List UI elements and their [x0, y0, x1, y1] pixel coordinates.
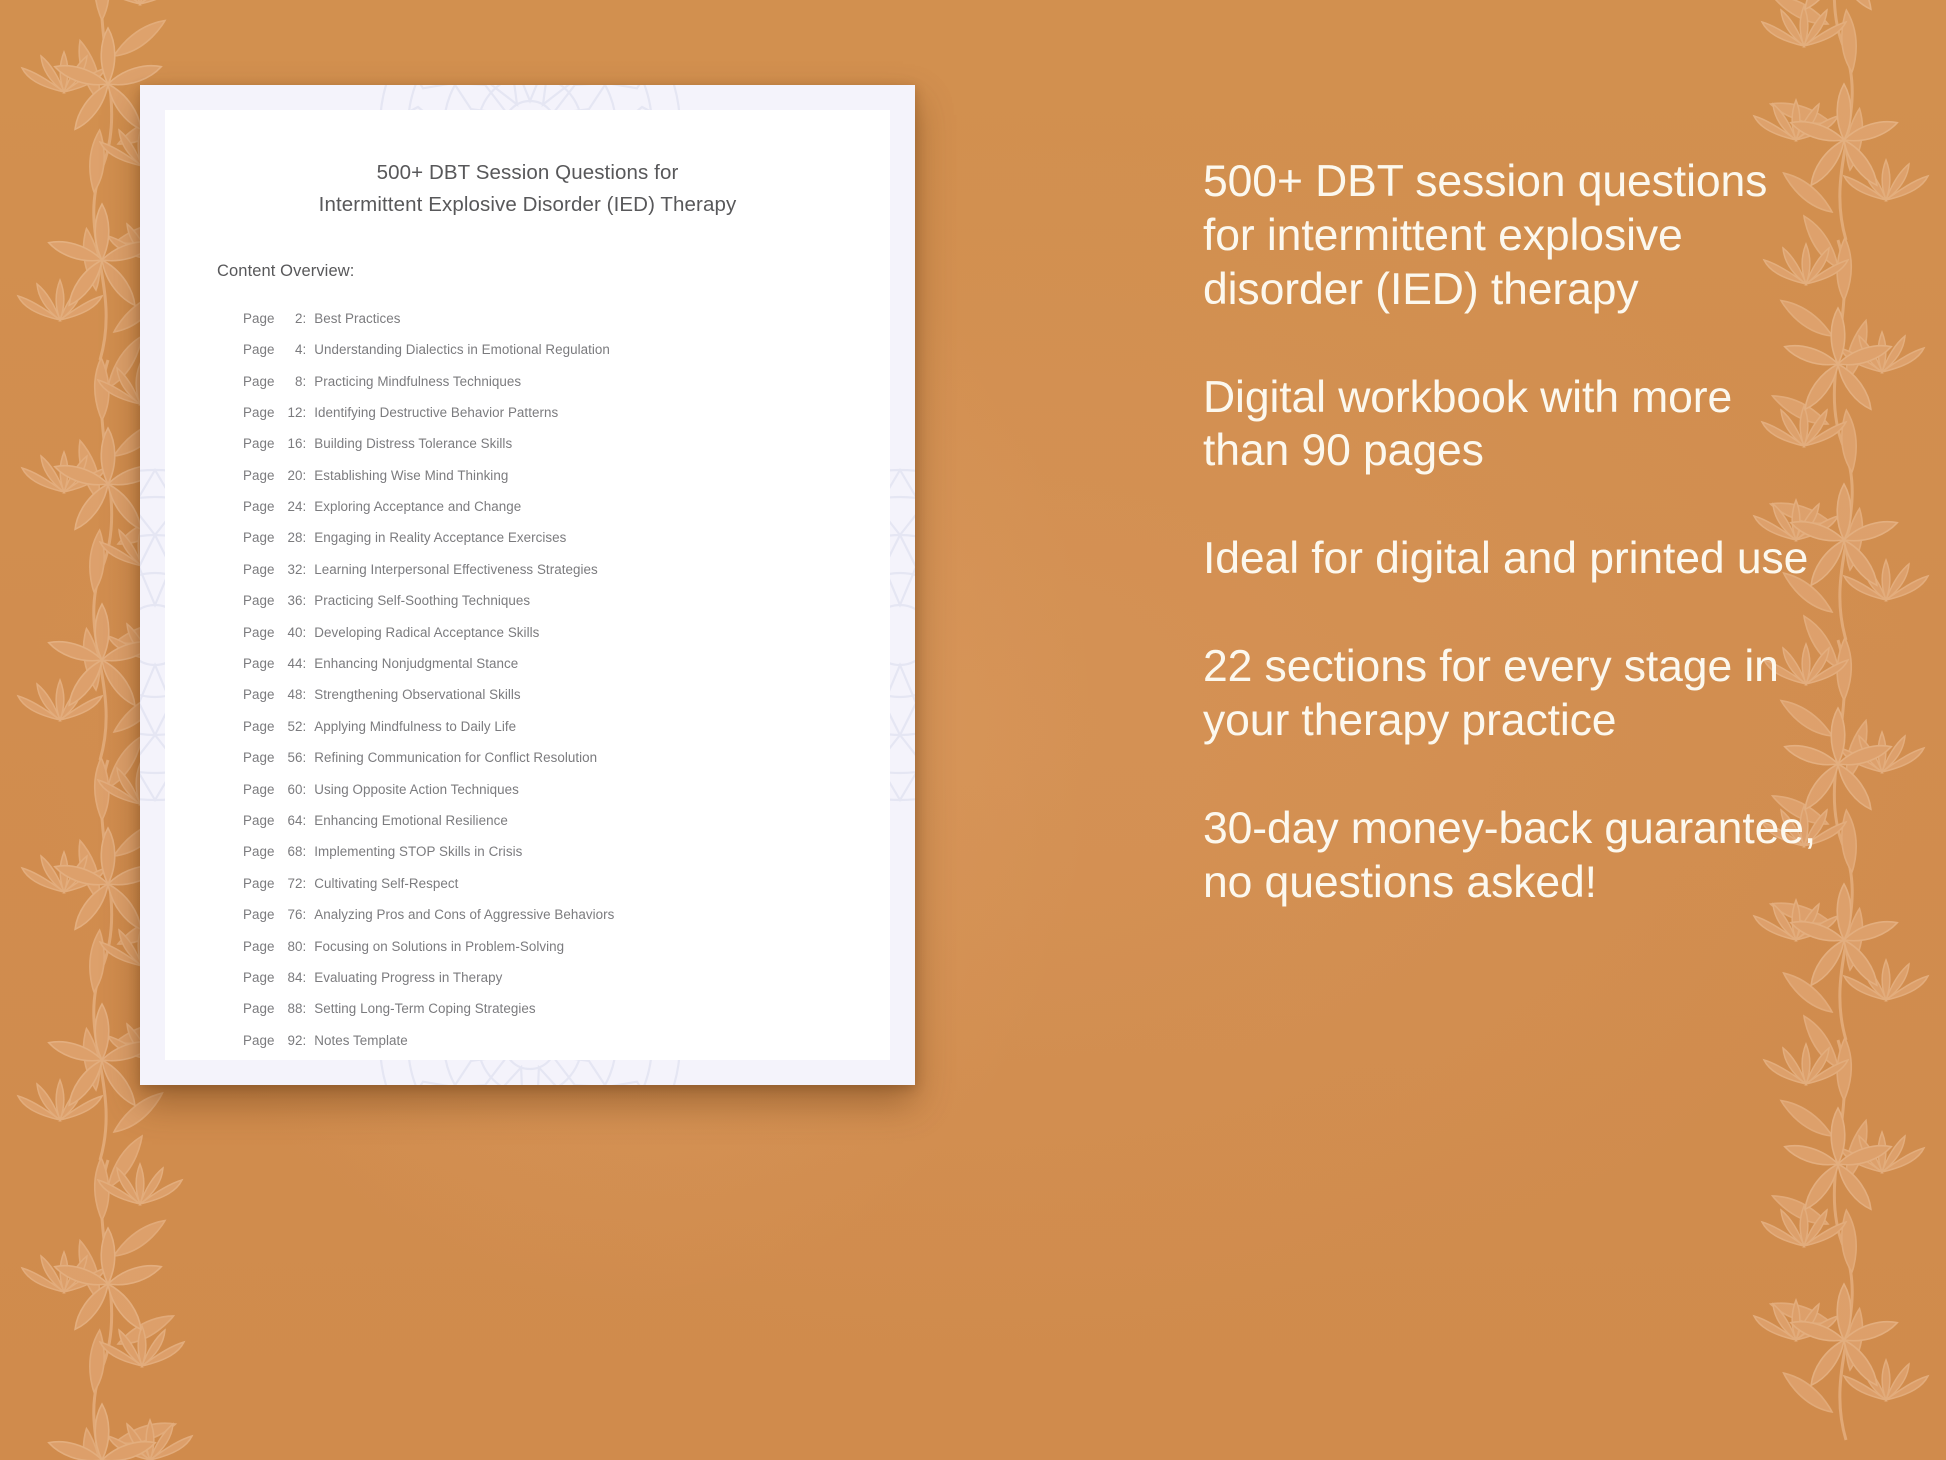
toc-page-word: Page [243, 970, 274, 985]
toc-page-number: 64 [278, 813, 302, 828]
toc-page-number: 36 [278, 593, 302, 608]
toc-page-word: Page [243, 687, 274, 702]
toc-entry-title: Exploring Acceptance and Change [314, 499, 521, 514]
toc-colon: : [302, 562, 306, 577]
toc-colon: : [302, 939, 306, 954]
toc-entry: Page76:Analyzing Pros and Cons of Aggres… [165, 899, 890, 930]
toc-entry: Page28:Engaging in Reality Acceptance Ex… [165, 522, 890, 553]
toc-entry-title: Enhancing Emotional Resilience [314, 813, 508, 828]
toc-colon: : [302, 750, 306, 765]
toc-colon: : [302, 907, 306, 922]
toc-page-word: Page [243, 499, 274, 514]
toc-entry-title: Using Opposite Action Techniques [314, 782, 519, 797]
toc-entry: Page80:Focusing on Solutions in Problem-… [165, 930, 890, 961]
toc-page-number: 4 [278, 342, 302, 357]
toc-entry: Page64:Enhancing Emotional Resilience [165, 805, 890, 836]
toc-colon: : [302, 844, 306, 859]
toc-page-number: 68 [278, 844, 302, 859]
toc-entry-title: Building Distress Tolerance Skills [314, 436, 512, 451]
toc-colon: : [302, 405, 306, 420]
toc-colon: : [302, 593, 306, 608]
toc-entry: Page44:Enhancing Nonjudgmental Stance [165, 648, 890, 679]
page-title-line-1: 500+ DBT Session Questions for [165, 157, 890, 189]
toc-entry-title: Focusing on Solutions in Problem-Solving [314, 939, 564, 954]
toc-page-number: 44 [278, 656, 302, 671]
toc-page-number: 88 [278, 1001, 302, 1016]
toc-entry: Page60:Using Opposite Action Techniques [165, 773, 890, 804]
toc-entry: Page40:Developing Radical Acceptance Ski… [165, 616, 890, 647]
toc-entry-title: Enhancing Nonjudgmental Stance [314, 656, 518, 671]
toc-colon: : [302, 970, 306, 985]
toc-page-number: 12 [278, 405, 302, 420]
toc-entry: Page4:Understanding Dialectics in Emotio… [165, 334, 890, 365]
toc-page-word: Page [243, 311, 274, 326]
toc-page-word: Page [243, 719, 274, 734]
toc-page-number: 48 [278, 687, 302, 702]
toc-page-word: Page [243, 374, 274, 389]
toc-entry-title: Setting Long-Term Coping Strategies [314, 1001, 535, 1016]
toc-entry: Page36:Practicing Self-Soothing Techniqu… [165, 585, 890, 616]
toc-entry-title: Learning Interpersonal Effectiveness Str… [314, 562, 597, 577]
toc-colon: : [302, 1001, 306, 1016]
toc-page-word: Page [243, 405, 274, 420]
toc-colon: : [302, 499, 306, 514]
workbook-preview: 500+ DBT Session Questions for Intermitt… [140, 85, 915, 1085]
toc-page-number: 84 [278, 970, 302, 985]
toc-page-word: Page [243, 782, 274, 797]
toc-page-word: Page [243, 939, 274, 954]
toc-entry-title: Understanding Dialectics in Emotional Re… [314, 342, 610, 357]
marketing-copy: 500+ DBT session questions for intermitt… [1203, 155, 1823, 909]
toc-entry: Page8:Practicing Mindfulness Techniques [165, 365, 890, 396]
toc-colon: : [302, 468, 306, 483]
toc-entry-title: Refining Communication for Conflict Reso… [314, 750, 597, 765]
toc-entry: Page2:Best Practices [165, 303, 890, 334]
toc-colon: : [302, 436, 306, 451]
toc-entry-title: Analyzing Pros and Cons of Aggressive Be… [314, 907, 614, 922]
toc-entry: Page16:Building Distress Tolerance Skill… [165, 428, 890, 459]
toc-colon: : [302, 656, 306, 671]
toc-entry-title: Applying Mindfulness to Daily Life [314, 719, 516, 734]
workbook-page: 500+ DBT Session Questions for Intermitt… [165, 110, 890, 1060]
toc-page-word: Page [243, 530, 274, 545]
toc-page-word: Page [243, 813, 274, 828]
toc-page-word: Page [243, 750, 274, 765]
toc-page-word: Page [243, 468, 274, 483]
toc-entry-title: Developing Radical Acceptance Skills [314, 625, 539, 640]
toc-entry: Page24:Exploring Acceptance and Change [165, 491, 890, 522]
toc-entry-title: Engaging in Reality Acceptance Exercises [314, 530, 566, 545]
toc-colon: : [302, 625, 306, 640]
toc-page-number: 24 [278, 499, 302, 514]
toc-page-word: Page [243, 625, 274, 640]
toc-colon: : [302, 687, 306, 702]
toc-colon: : [302, 311, 306, 326]
toc-entry: Page84:Evaluating Progress in Therapy [165, 962, 890, 993]
toc-entry: Page48:Strengthening Observational Skill… [165, 679, 890, 710]
toc-page-word: Page [243, 1001, 274, 1016]
toc-entry: Page12:Identifying Destructive Behavior … [165, 397, 890, 428]
toc-entry-title: Practicing Self-Soothing Techniques [314, 593, 530, 608]
toc-entry-title: Identifying Destructive Behavior Pattern… [314, 405, 558, 420]
toc-entry: Page32:Learning Interpersonal Effectiven… [165, 554, 890, 585]
toc-colon: : [302, 876, 306, 891]
table-of-contents: Page2:Best PracticesPage4:Understanding … [165, 281, 890, 1056]
toc-page-number: 20 [278, 468, 302, 483]
toc-colon: : [302, 813, 306, 828]
toc-page-number: 32 [278, 562, 302, 577]
toc-page-number: 8 [278, 374, 302, 389]
toc-page-number: 40 [278, 625, 302, 640]
toc-entry-title: Strengthening Observational Skills [314, 687, 520, 702]
toc-page-number: 28 [278, 530, 302, 545]
marketing-paragraph: Ideal for digital and printed use [1203, 532, 1823, 586]
page-mat: 500+ DBT Session Questions for Intermitt… [140, 85, 915, 1085]
toc-entry: Page20:Establishing Wise Mind Thinking [165, 459, 890, 490]
toc-page-word: Page [243, 1033, 274, 1048]
toc-entry-title: Best Practices [314, 311, 400, 326]
toc-entry-title: Cultivating Self-Respect [314, 876, 458, 891]
toc-entry: Page72:Cultivating Self-Respect [165, 868, 890, 899]
marketing-paragraph: Digital workbook with more than 90 pages [1203, 371, 1823, 479]
toc-page-number: 72 [278, 876, 302, 891]
marketing-paragraph: 30-day money-back guarantee, no question… [1203, 802, 1823, 910]
toc-entry-title: Evaluating Progress in Therapy [314, 970, 502, 985]
toc-colon: : [302, 530, 306, 545]
toc-colon: : [302, 342, 306, 357]
toc-entry: Page68:Implementing STOP Skills in Crisi… [165, 836, 890, 867]
toc-page-number: 60 [278, 782, 302, 797]
toc-page-word: Page [243, 656, 274, 671]
toc-entry: Page88:Setting Long-Term Coping Strategi… [165, 993, 890, 1024]
toc-page-number: 52 [278, 719, 302, 734]
toc-colon: : [302, 719, 306, 734]
toc-entry-title: Notes Template [314, 1033, 408, 1048]
toc-colon: : [302, 1033, 306, 1048]
toc-entry-title: Practicing Mindfulness Techniques [314, 374, 521, 389]
toc-page-word: Page [243, 907, 274, 922]
toc-entry: Page56:Refining Communication for Confli… [165, 742, 890, 773]
toc-page-word: Page [243, 593, 274, 608]
toc-entry: Page92:Notes Template [165, 1025, 890, 1056]
marketing-paragraph: 500+ DBT session questions for intermitt… [1203, 155, 1823, 317]
toc-colon: : [302, 782, 306, 797]
toc-page-word: Page [243, 436, 274, 451]
toc-entry: Page52:Applying Mindfulness to Daily Lif… [165, 711, 890, 742]
toc-page-number: 76 [278, 907, 302, 922]
toc-page-word: Page [243, 342, 274, 357]
toc-page-word: Page [243, 844, 274, 859]
toc-colon: : [302, 374, 306, 389]
toc-entry-title: Implementing STOP Skills in Crisis [314, 844, 522, 859]
toc-page-number: 16 [278, 436, 302, 451]
toc-entry-title: Establishing Wise Mind Thinking [314, 468, 508, 483]
toc-page-word: Page [243, 876, 274, 891]
toc-page-word: Page [243, 562, 274, 577]
toc-page-number: 80 [278, 939, 302, 954]
content-overview-label: Content Overview: [165, 221, 890, 281]
page-title: 500+ DBT Session Questions for Intermitt… [165, 110, 890, 221]
marketing-paragraph: 22 sections for every stage in your ther… [1203, 640, 1823, 748]
page-title-line-2: Intermittent Explosive Disorder (IED) Th… [165, 189, 890, 221]
toc-page-number: 56 [278, 750, 302, 765]
toc-page-number: 2 [278, 311, 302, 326]
promo-graphic: 500+ DBT Session Questions for Intermitt… [0, 0, 1946, 1460]
toc-page-number: 92 [278, 1033, 302, 1048]
